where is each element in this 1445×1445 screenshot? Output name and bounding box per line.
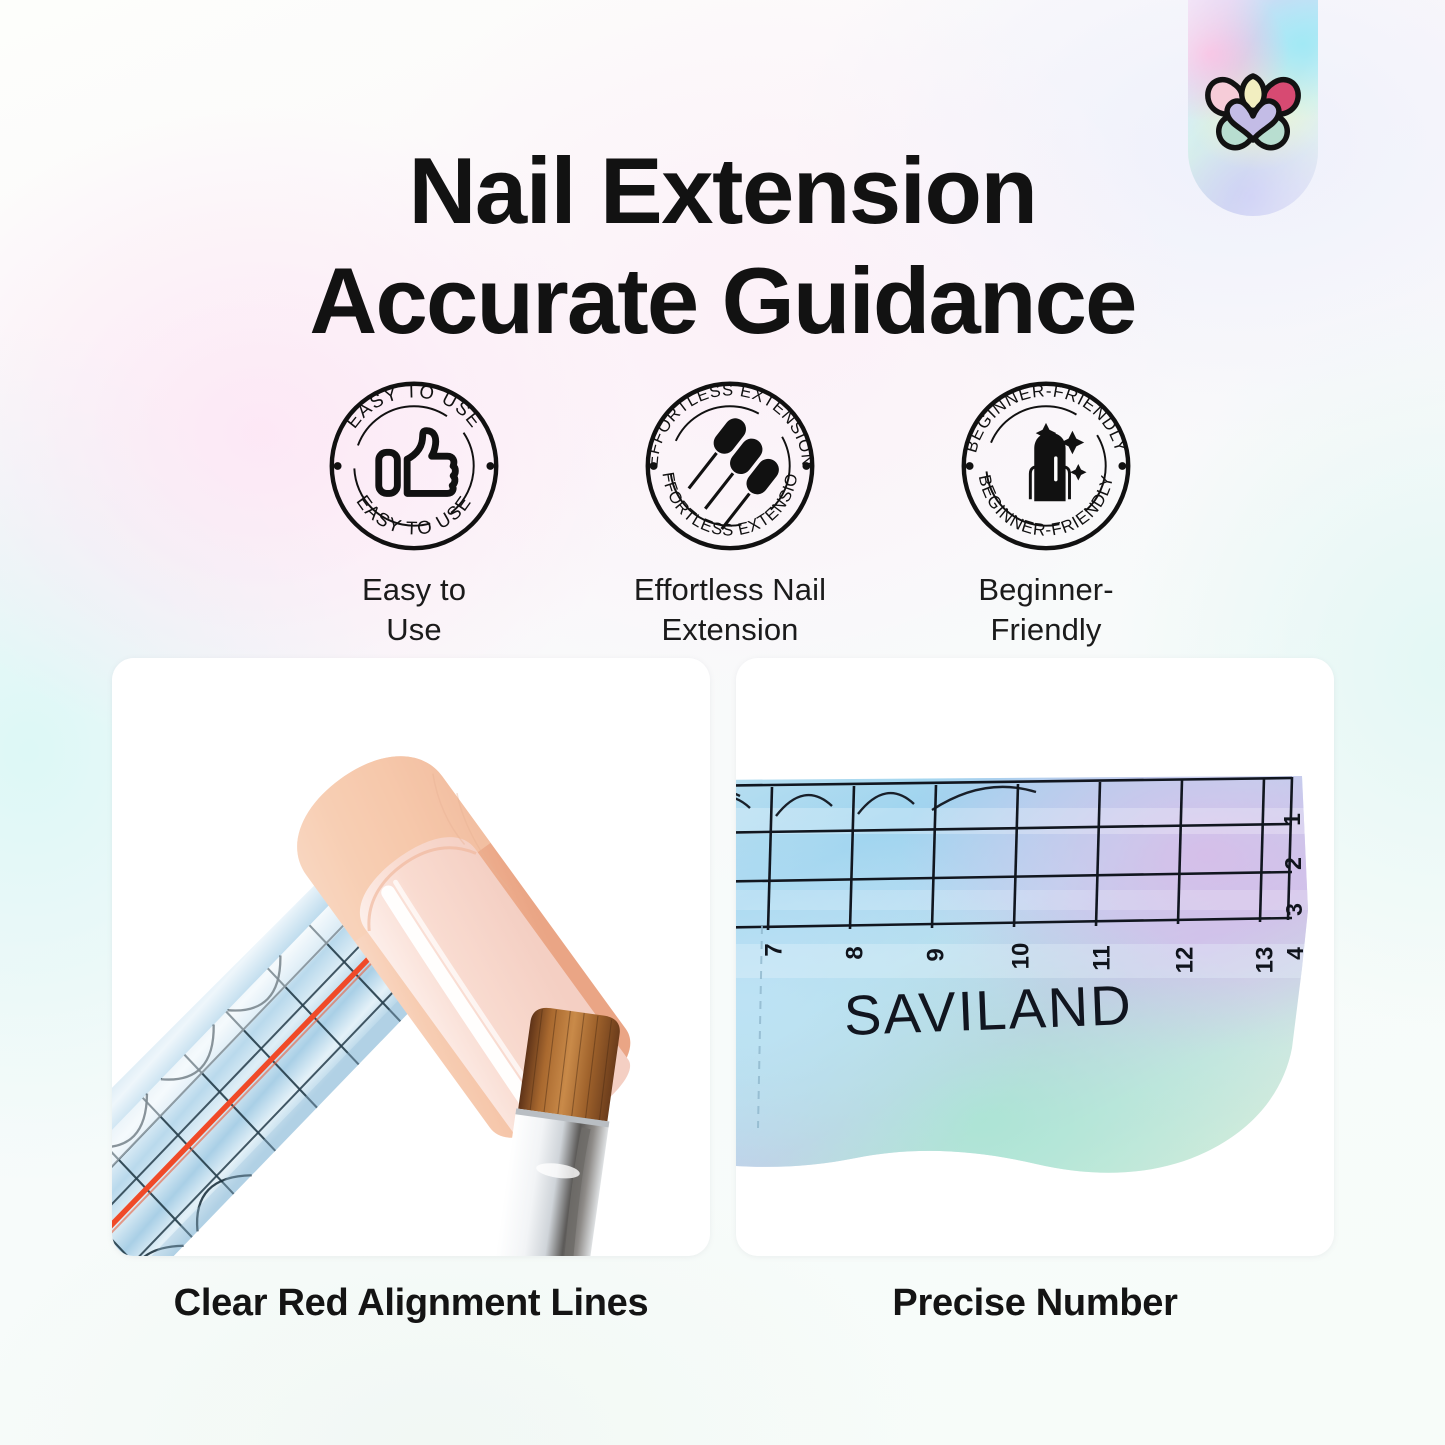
easy-to-use-stamp-icon: EASY TO USE EASY TO USE: [316, 372, 512, 558]
brand-wordmark: SAVILAND: [843, 972, 1134, 1048]
nail-sparkle-icon: [1030, 423, 1086, 501]
tick-number: 9: [923, 948, 951, 961]
card-caption: Precise Number: [736, 1282, 1334, 1325]
feature-beginner-friendly: BEGINNER-FRIENDLY BEGINNER-FRIENDLY Begi…: [932, 372, 1160, 651]
thumbs-up-icon: [379, 431, 456, 494]
tick-number: 3: [1281, 903, 1308, 916]
tick-number: 2: [1280, 857, 1307, 870]
effortless-extension-stamp-icon: EFFORTLESS EXTENSION EFFORTLESS EXTENSIO…: [632, 372, 828, 558]
card-column-right: 7 8 9 10 11 12 13 1 2 3 4 SAVILAND Preci…: [736, 658, 1334, 1325]
feature-label: Easy to Use: [362, 570, 466, 651]
headline-line-1: Nail Extension: [408, 138, 1036, 243]
tick-number: 8: [842, 946, 870, 959]
tick-number: 1: [1279, 813, 1306, 826]
product-feature-graphic: Nail Extension Accurate Guidance EASY TO…: [0, 0, 1445, 1445]
card-column-left: Clear Red Alignment Lines: [112, 658, 710, 1325]
headline-line-2: Accurate Guidance: [0, 246, 1445, 356]
card-precise-number: 7 8 9 10 11 12 13 1 2 3 4 SAVILAND: [736, 658, 1334, 1256]
feature-label: Effortless Nail Extension: [634, 570, 826, 651]
feature-effortless-extension: EFFORTLESS EXTENSION EFFORTLESS EXTENSIO…: [616, 372, 844, 651]
stamp-bottom-text: EASY TO USE: [353, 491, 476, 539]
beginner-friendly-stamp-icon: BEGINNER-FRIENDLY BEGINNER-FRIENDLY: [948, 372, 1144, 558]
feature-easy-to-use: EASY TO USE EASY TO USE Easy to Use: [300, 372, 528, 651]
card-clear-red-alignment-lines: [112, 658, 710, 1256]
tick-number: 10: [1007, 943, 1035, 970]
feature-label: Beginner- Friendly: [978, 570, 1113, 651]
tick-number: 11: [1089, 945, 1117, 970]
photo-cards-row: Clear Red Alignment Lines: [112, 658, 1334, 1325]
page-title: Nail Extension Accurate Guidance: [0, 136, 1445, 356]
feature-badges-row: EASY TO USE EASY TO USE Easy to Use: [300, 372, 1160, 651]
card-caption: Clear Red Alignment Lines: [112, 1282, 710, 1325]
tick-number: 12: [1171, 947, 1199, 974]
finger-with-nail-form-and-brush-photo: [112, 658, 710, 1256]
tick-number: 7: [761, 943, 789, 956]
svg-text:EASY TO USE: EASY TO USE: [353, 491, 476, 539]
tick-number: 4: [1282, 947, 1309, 960]
tick-number: 13: [1251, 947, 1279, 974]
